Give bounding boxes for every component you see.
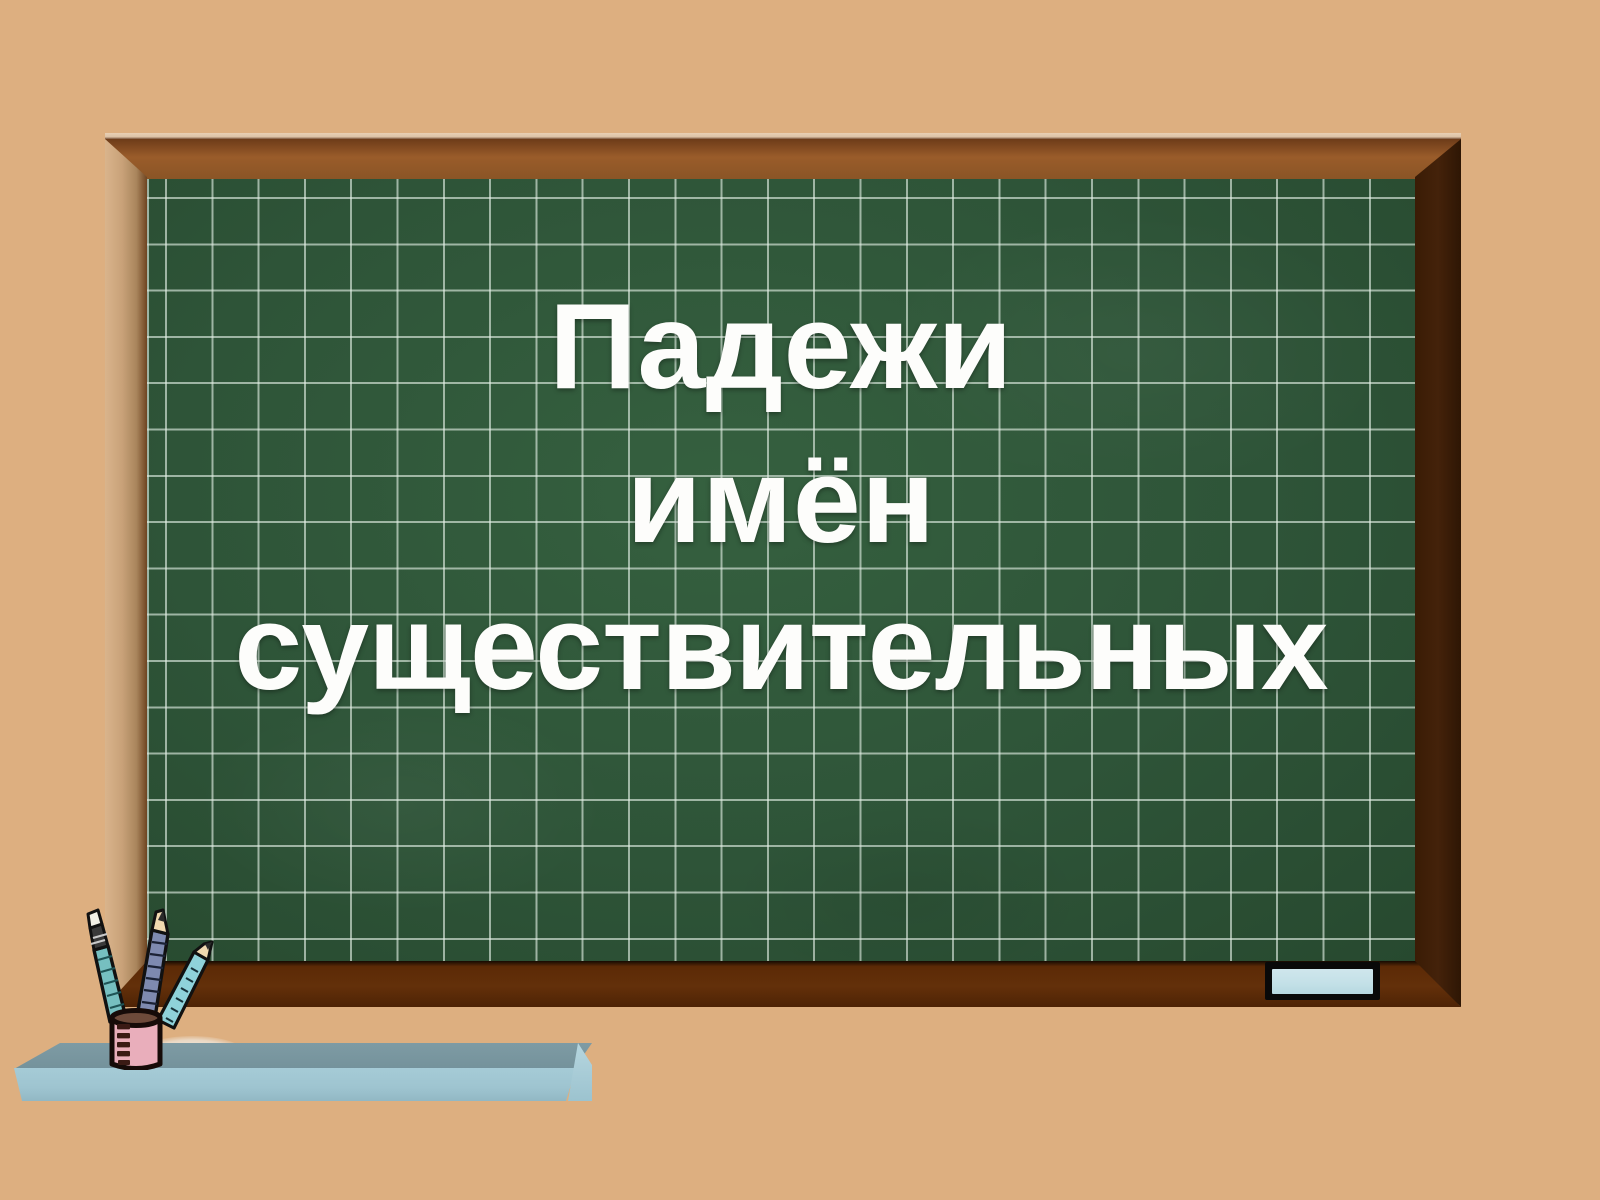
chalkboard[interactable]: Падежи имён существительных [105,133,1461,1007]
board-frame-left [105,139,147,1007]
pencil-cup-group[interactable] [86,898,216,1070]
teal-pencil-icon [88,910,128,1026]
slide-title: Падежи имён существительных [147,287,1415,708]
eraser-felt-pad [1272,969,1373,994]
cup-body [112,1011,160,1069]
title-line-3: существительных [147,588,1415,708]
pencil-cup-illustration [86,898,216,1070]
shelf-front-face [14,1068,576,1101]
board-frame-bottom [105,961,1461,1007]
chalkboard-eraser[interactable] [1265,962,1380,1000]
board-frame-top-highlight [105,133,1461,140]
title-line-2: имён [147,441,1415,561]
chalkboard-writing-surface[interactable]: Падежи имён существительных [147,179,1415,961]
title-line-1: Падежи [147,287,1415,407]
board-frame-top [105,139,1461,179]
board-frame-right [1415,139,1461,1007]
